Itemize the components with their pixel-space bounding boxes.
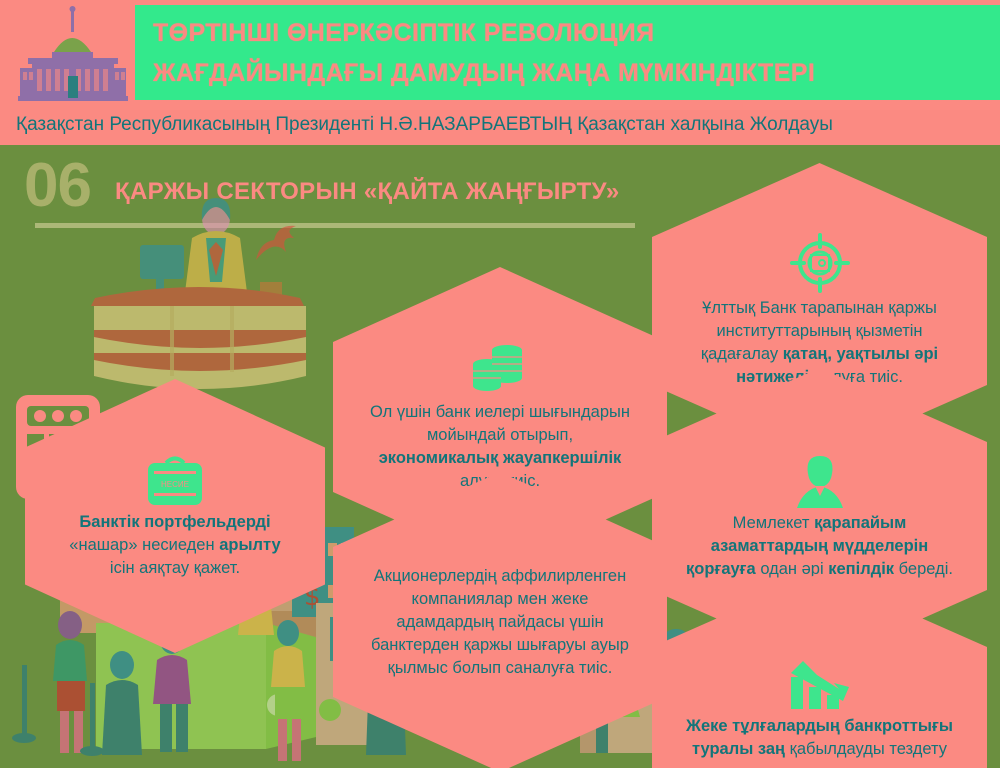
- card-text: Банктік портфельдерді «нашар» несиеден а…: [59, 511, 291, 580]
- content-canvas: 06 ҚАРЖЫ СЕКТОРЫН «ҚАЙТА ЖАҢҒЫРТУ»: [0, 145, 1000, 768]
- credit-briefcase-icon: НЕСИЕ: [59, 453, 291, 507]
- card-text: Жеке тұлғалардың банкроттығы туралы заң …: [686, 715, 953, 768]
- card-text: Акционерлердің аффилирленген компаниялар…: [367, 565, 633, 680]
- declining-chart-icon: [686, 659, 953, 711]
- bank-teller-counter-illustration: [20, 190, 370, 410]
- infographic-page: ТӨРТІНШІ ӨНЕРКӘСІПТІК РЕВОЛЮЦИЯ ЖАҒДАЙЫН…: [0, 0, 1000, 768]
- citizen-person-icon: [686, 452, 953, 508]
- coin-stacks-icon: [367, 341, 633, 397]
- header: ТӨРТІНШІ ӨНЕРКӘСІПТІК РЕВОЛЮЦИЯ ЖАҒДАЙЫН…: [0, 0, 1000, 105]
- header-title-line-2: ЖАҒДАЙЫНДАҒЫ ДАМУДЫҢ ЖАҢА МҮМКІНДІКТЕРІ: [153, 53, 1000, 93]
- svg-text:НЕСИЕ: НЕСИЕ: [161, 480, 189, 489]
- header-title-line-1: ТӨРТІНШІ ӨНЕРКӘСІПТІК РЕВОЛЮЦИЯ: [153, 13, 1000, 53]
- safe-target-icon: [686, 233, 953, 293]
- header-title-band: ТӨРТІНШІ ӨНЕРКӘСІПТІК РЕВОЛЮЦИЯ ЖАҒДАЙЫН…: [135, 5, 1000, 100]
- subtitle-text: Қазақстан Республикасының Президенті Н.Ә…: [16, 114, 833, 136]
- akorda-palace-icon: [12, 6, 134, 102]
- card-text: Мемлекет қарапайым азаматтардың мүдделер…: [686, 512, 953, 581]
- subtitle-band: Қазақстан Республикасының Президенті Н.Ә…: [0, 105, 1000, 145]
